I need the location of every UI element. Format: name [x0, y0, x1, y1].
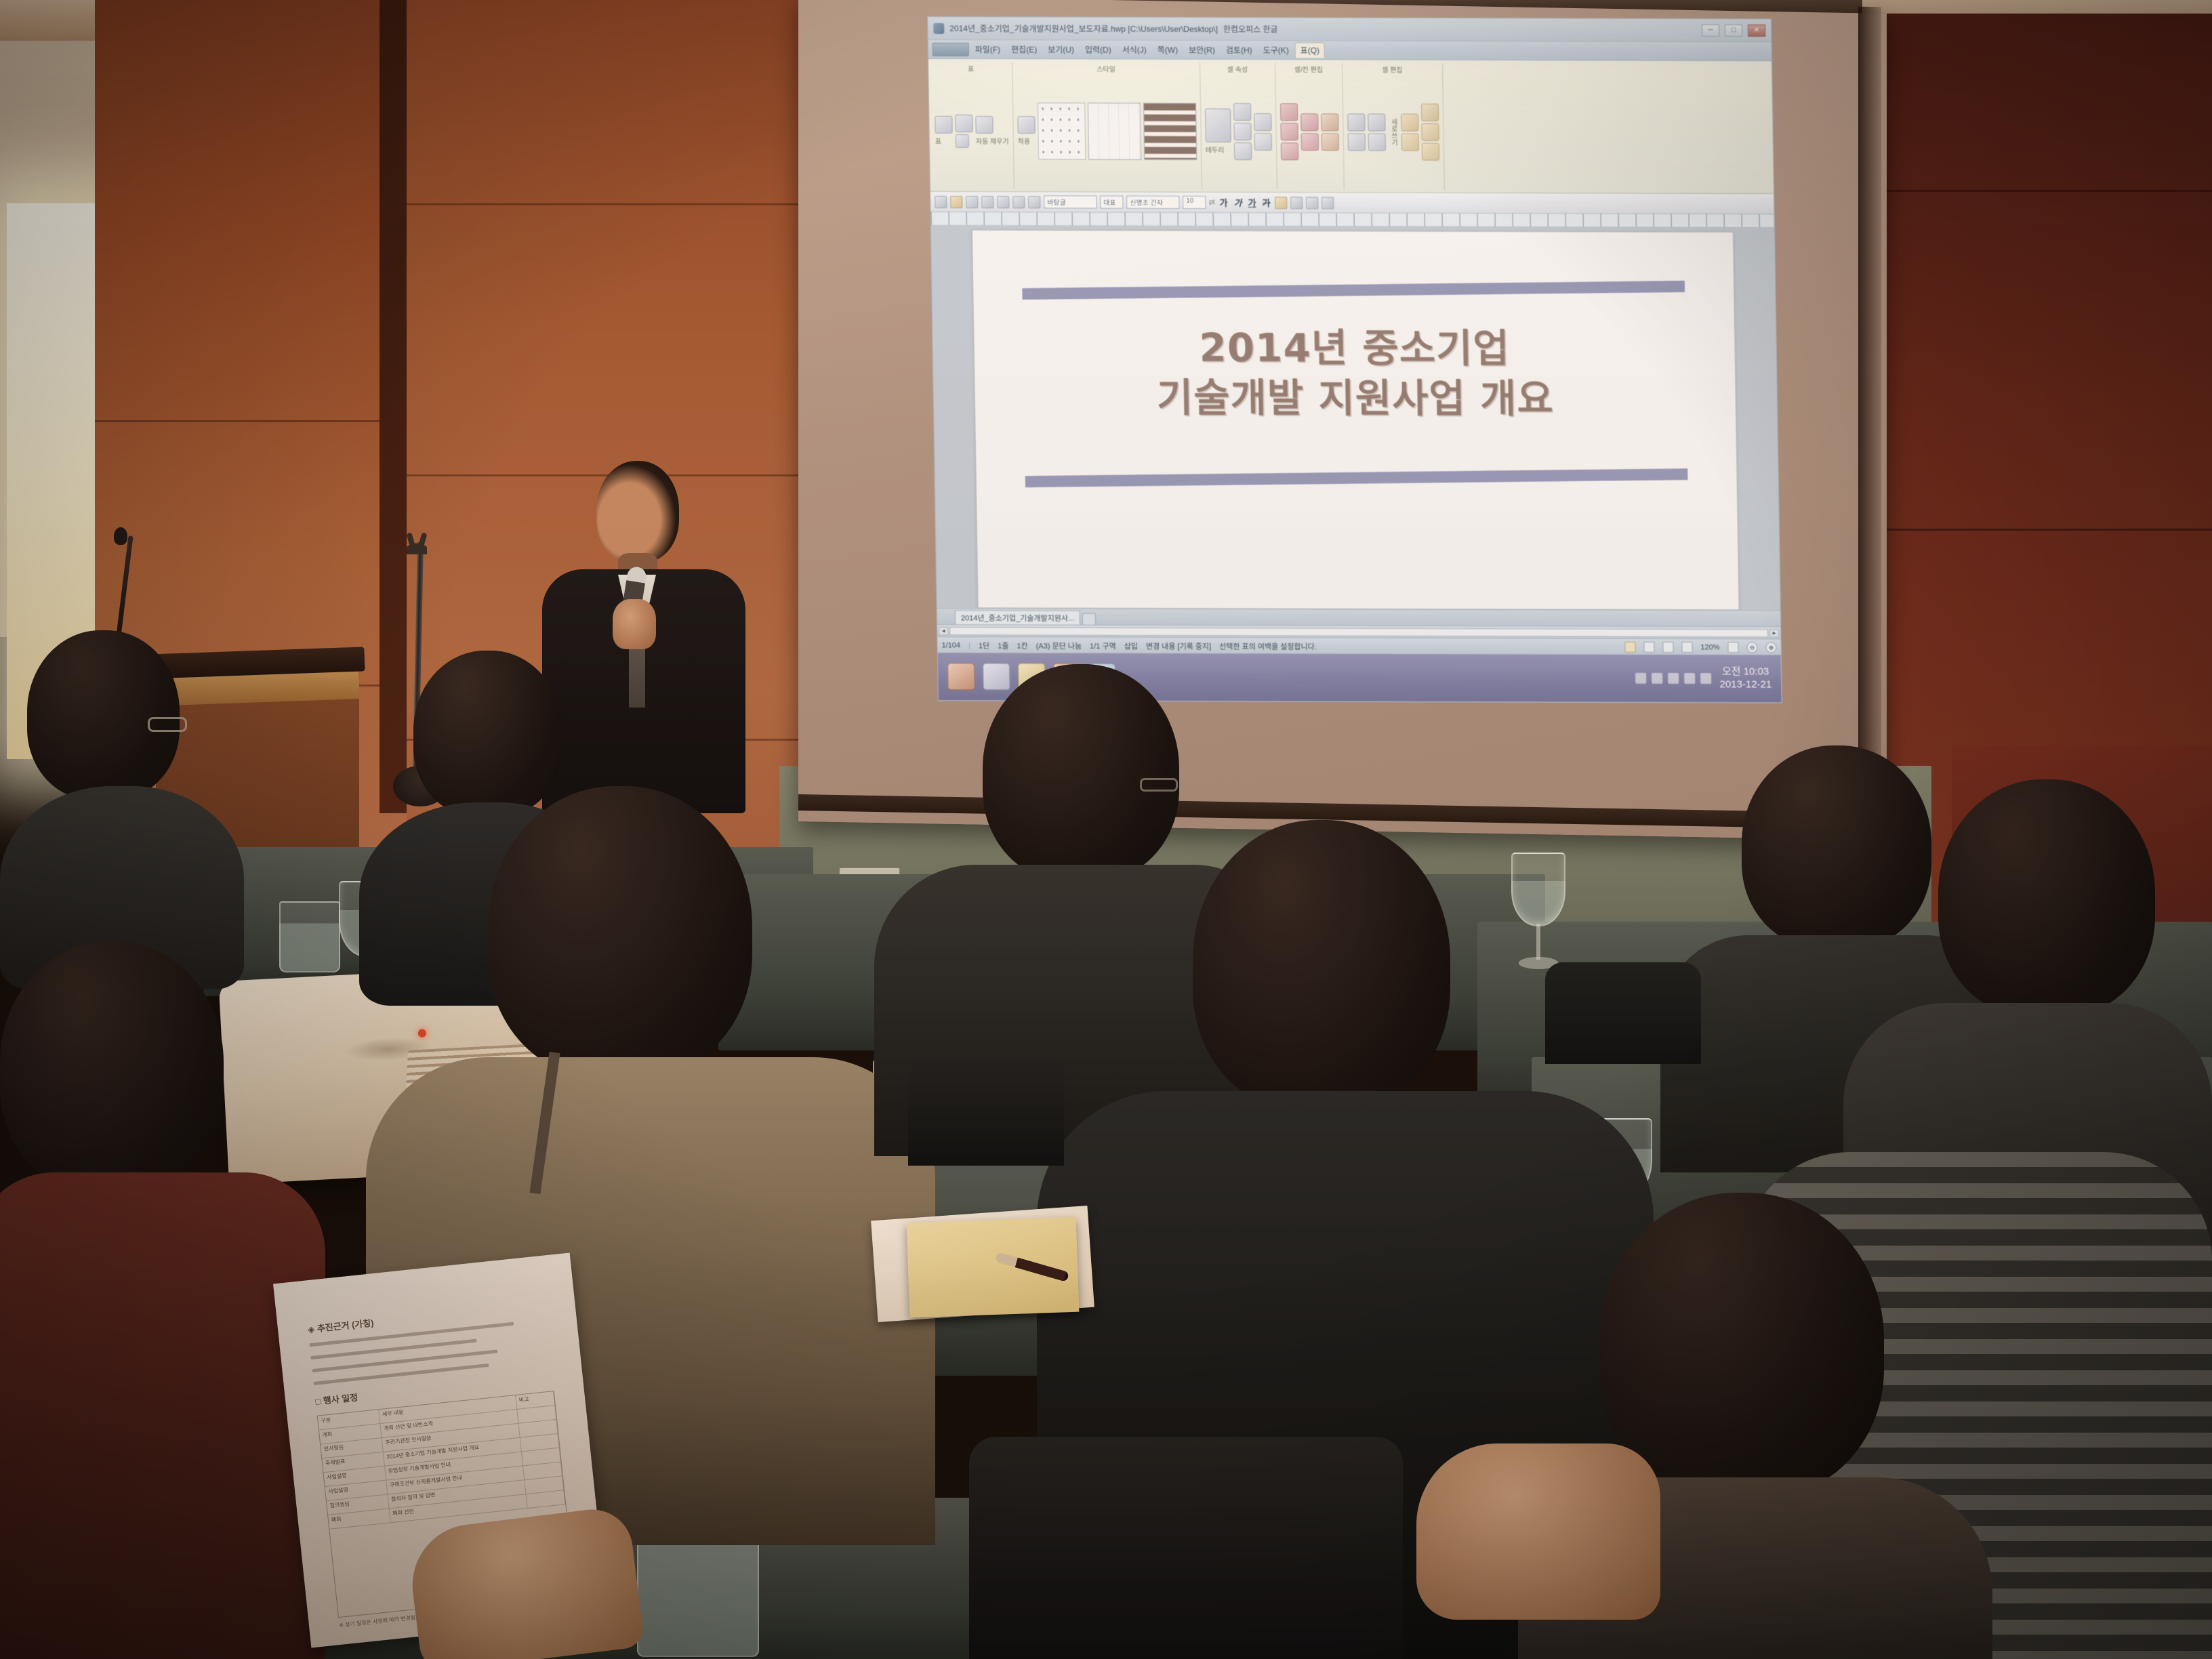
- table-sort-icon[interactable]: [1422, 143, 1439, 161]
- cell-split-horizontal-icon[interactable]: [1347, 113, 1365, 131]
- attendee-head: [1193, 820, 1450, 1111]
- paragraph-mark-indicator: (A3) 문단 나눔: [1036, 640, 1082, 651]
- podium-microphone-head-icon: [114, 527, 127, 545]
- window-title: 2014년_중소기업_기술개발지원사업_보도자료.hwp [C:\Users\U…: [949, 22, 1218, 35]
- microphone-clip-icon: [407, 533, 427, 554]
- show-hidden-icon[interactable]: [1635, 673, 1646, 684]
- delete-column-icon[interactable]: [1300, 133, 1318, 150]
- cell-padding-icon[interactable]: [1401, 133, 1418, 150]
- table-style-gallery-grid[interactable]: [1088, 103, 1141, 160]
- table-properties-icon[interactable]: [975, 116, 993, 134]
- ribbon-label: 테두리: [1206, 144, 1231, 155]
- screen-edge-shadow: [1858, 7, 1881, 821]
- presenter-head: [596, 461, 679, 562]
- ribbon-group-title: 셀 편집: [1382, 64, 1403, 75]
- page-outline-view-button[interactable]: [1624, 641, 1635, 652]
- document-title-block: 2014년 중소기업 기술개발 지원사업 개요: [1012, 295, 1696, 431]
- document-tab-bar: 2014년_중소기업_기술개발지원사...: [937, 608, 1780, 626]
- maximize-button[interactable]: □: [1725, 24, 1742, 37]
- table-formula-icon[interactable]: [1421, 123, 1439, 141]
- ribbon-label: 표: [935, 136, 953, 146]
- chair-back-front: [969, 1437, 1403, 1659]
- apply-style-icon[interactable]: [1017, 116, 1035, 134]
- align-center-icon[interactable]: [1306, 197, 1318, 209]
- menu-item-format[interactable]: 서식(J): [1118, 43, 1151, 57]
- ribbon-label: 적용: [1018, 136, 1036, 146]
- preview-icon[interactable]: [997, 196, 1009, 208]
- taskbar-clock[interactable]: 오전 10:03 2013-12-21: [1719, 665, 1771, 691]
- character-style-select[interactable]: 대표: [1100, 196, 1123, 209]
- bold-button[interactable]: 가: [1218, 196, 1229, 209]
- undo-icon[interactable]: [1012, 196, 1025, 208]
- document-page[interactable]: 2014년 중소기업 기술개발 지원사업 개요: [972, 230, 1740, 610]
- merge-cells-icon[interactable]: [955, 115, 972, 132]
- insert-column-right-icon[interactable]: [1300, 113, 1318, 131]
- cell-background-icon[interactable]: [1234, 142, 1252, 160]
- split-cell-icon[interactable]: [1321, 133, 1338, 150]
- zoom-in-button[interactable]: ⊕: [1765, 642, 1776, 653]
- italic-button[interactable]: 가: [1232, 196, 1243, 209]
- paragraph-style-select[interactable]: 바탕글: [1044, 195, 1097, 208]
- conference-room-scene: 2014년_중소기업_기술개발지원사업_보도자료.hwp [C:\Users\U…: [0, 0, 2212, 1659]
- battery-icon[interactable]: [1668, 673, 1679, 684]
- align-left-icon[interactable]: [1290, 197, 1303, 209]
- char-indicator: 1칸: [1017, 640, 1027, 651]
- attendee-left-glasses: [0, 630, 244, 983]
- status-hint-message: 선택한 표의 여백을 설정합니다.: [1219, 640, 1317, 651]
- hangul-logo-icon[interactable]: [933, 43, 969, 56]
- system-tray: [1635, 673, 1711, 684]
- zoom-dropdown-icon[interactable]: [1727, 642, 1738, 653]
- attendee-hand-icon: [1416, 1443, 1660, 1620]
- handout-heading: ◈ 추진근거 (가칭): [307, 1298, 546, 1336]
- merge-cell-icon[interactable]: [1321, 113, 1338, 131]
- table-cell: [527, 1490, 566, 1508]
- projected-image: 2014년_중소기업_기술개발지원사업_보도자료.hwp [C:\Users\U…: [927, 16, 1782, 703]
- menu-item-review[interactable]: 검토(H): [1221, 43, 1257, 57]
- menu-item-edit[interactable]: 편집(E): [1006, 42, 1042, 56]
- ribbon-toolbar: 표 표 자동 채우기: [928, 59, 1774, 194]
- ribbon-group-title: 스타일: [1097, 64, 1115, 74]
- ribbon-group-cell-edit: 셀 편집 세로쓰기: [1343, 63, 1445, 190]
- menu-item-table[interactable]: 표(Q): [1295, 42, 1326, 58]
- menu-item-input[interactable]: 입력(D): [1080, 43, 1116, 57]
- print-icon[interactable]: [981, 196, 994, 208]
- attendee-torso-red: [0, 1172, 325, 1659]
- menu-item-page[interactable]: 쪽(W): [1153, 43, 1183, 57]
- chair-back-center: [908, 1057, 1064, 1166]
- app-name-label: 한컴오피스 한글: [1223, 23, 1278, 35]
- cell-align-icon[interactable]: [1368, 113, 1385, 131]
- scroll-right-arrow[interactable]: ►: [1769, 629, 1779, 637]
- align-right-icon[interactable]: [1322, 197, 1334, 209]
- insert-table-icon[interactable]: [935, 116, 952, 134]
- insert-row-above-icon[interactable]: [1280, 103, 1298, 121]
- zoom-level-label[interactable]: 120%: [1700, 643, 1719, 651]
- document-title-line-1: 2014년 중소기업: [1013, 322, 1696, 374]
- insert-mode-indicator[interactable]: 삽입: [1124, 640, 1138, 651]
- ribbon-group-title: 셀/칸 편집: [1294, 64, 1324, 74]
- page-fit-view-button[interactable]: [1662, 641, 1673, 652]
- document-canvas[interactable]: 2014년 중소기업 기술개발 지원사업 개요: [931, 226, 1780, 610]
- clock-date: 2013-12-21: [1719, 678, 1771, 691]
- cell-margin-icon[interactable]: [1368, 133, 1385, 150]
- formatting-toolbar: 바탕글 대표 신명조 간자 10 pt 가 가 가 가: [930, 192, 1774, 214]
- save-icon[interactable]: [966, 196, 978, 208]
- border-style-icon[interactable]: [1233, 103, 1251, 121]
- clock-time: 오전 10:03: [1719, 665, 1771, 678]
- scroll-track[interactable]: [949, 627, 1768, 637]
- attendee-head: [488, 786, 752, 1078]
- zoom-magnifier-icon[interactable]: [1681, 642, 1692, 653]
- menu-bar: 파일(F) 편집(E) 보기(U) 입력(D) 서식(J) 쪽(W) 보안(R)…: [928, 40, 1771, 61]
- attendee-eyeglasses-icon: [148, 717, 187, 732]
- underline-button[interactable]: 가: [1246, 196, 1257, 209]
- ribbon-group-cell-properties: 셀 속성 테두리: [1200, 62, 1277, 189]
- ribbon-group-title: 표: [968, 63, 974, 73]
- open-file-icon[interactable]: [950, 196, 962, 208]
- chair-back-right: [1545, 962, 1701, 1064]
- menu-item-security[interactable]: 보안(R): [1184, 43, 1220, 57]
- cell-border-preview-icon[interactable]: [1205, 108, 1231, 142]
- ribbon-label: 자동 채우기: [976, 136, 1009, 146]
- split-cells-icon[interactable]: [956, 134, 969, 148]
- presenter-hand: [613, 599, 656, 649]
- cell-split-vertical-icon[interactable]: [1347, 133, 1365, 150]
- ribbon-group-style: 스타일 적용: [1012, 62, 1202, 189]
- insert-column-left-icon[interactable]: [1280, 123, 1298, 140]
- menu-item-tools[interactable]: 도구(K): [1258, 43, 1293, 57]
- diagonal-border-icon[interactable]: [1254, 113, 1271, 131]
- menu-item-file[interactable]: 파일(F): [970, 42, 1006, 56]
- add-tab-button[interactable]: [1082, 613, 1096, 625]
- font-size-unit-label: pt: [1209, 199, 1215, 206]
- track-changes-indicator[interactable]: 변경 내용 [기록 중지]: [1146, 640, 1211, 651]
- attendee-head: [27, 630, 180, 800]
- font-color-icon[interactable]: [1275, 197, 1287, 209]
- hangul-word-processor-window: 2014년_중소기업_기술개발지원사업_보도자료.hwp [C:\Users\U…: [927, 16, 1782, 703]
- table-caption-icon[interactable]: [1421, 104, 1439, 121]
- menu-item-view[interactable]: 보기(U): [1043, 42, 1079, 56]
- title-accent-bar-bottom: [1025, 469, 1688, 488]
- signal-icon[interactable]: [1684, 673, 1695, 684]
- shading-icon[interactable]: [1254, 133, 1271, 150]
- volume-icon[interactable]: [1700, 673, 1711, 684]
- network-icon[interactable]: [1652, 673, 1662, 684]
- table-style-gallery-banded[interactable]: [1143, 103, 1197, 160]
- zoom-out-button[interactable]: ⊖: [1746, 642, 1757, 653]
- app-icon: [933, 23, 944, 34]
- document-tab[interactable]: 2014년_중소기업_기술개발지원사...: [955, 610, 1081, 624]
- status-bar: 1/104 | 1단 1줄 1칸 (A3) 문단 나눔 1/1 구역 삽입 변경…: [937, 636, 1780, 655]
- scroll-left-arrow[interactable]: ◄: [939, 627, 948, 635]
- minimize-button[interactable]: ─: [1702, 24, 1719, 36]
- attendee-eyeglasses-icon: [1140, 778, 1178, 792]
- font-size-select[interactable]: 10: [1183, 196, 1206, 209]
- document-title-line-2: 기술개발 지원사업 개요: [1014, 373, 1696, 425]
- window-title-bar: 2014년_중소기업_기술개발지원사업_보도자료.hwp [C:\Users\U…: [928, 17, 1771, 42]
- new-document-icon[interactable]: [935, 196, 947, 208]
- attendee-hand-foreground: [1416, 1443, 1660, 1659]
- table-style-gallery-plain[interactable]: [1038, 102, 1086, 159]
- border-width-icon[interactable]: [1233, 123, 1251, 140]
- close-button[interactable]: ✕: [1748, 24, 1765, 37]
- ribbon-group-title: 셀 속성: [1227, 64, 1248, 74]
- font-family-select[interactable]: 신명조 간자: [1126, 196, 1179, 209]
- delete-row-icon[interactable]: [1281, 142, 1298, 160]
- vertical-writing-label: 세로쓰기: [1388, 119, 1399, 146]
- width-fit-view-button[interactable]: [1643, 641, 1654, 652]
- ribbon-group-row-column: 셀/칸 편집: [1275, 62, 1345, 189]
- attendee-head: [1938, 779, 2155, 1017]
- attendee-head: [0, 942, 224, 1193]
- strikethrough-button[interactable]: 가: [1261, 196, 1271, 209]
- text-direction-icon[interactable]: [1401, 113, 1418, 131]
- page-indicator: 1/104: [941, 641, 960, 649]
- ribbon-group-table: 표 표 자동 채우기: [930, 62, 1015, 188]
- column-indicator: 1단: [979, 640, 989, 651]
- line-indicator: 1줄: [998, 640, 1008, 651]
- section-indicator: 1/1 구역: [1090, 640, 1116, 651]
- redo-icon[interactable]: [1028, 196, 1040, 208]
